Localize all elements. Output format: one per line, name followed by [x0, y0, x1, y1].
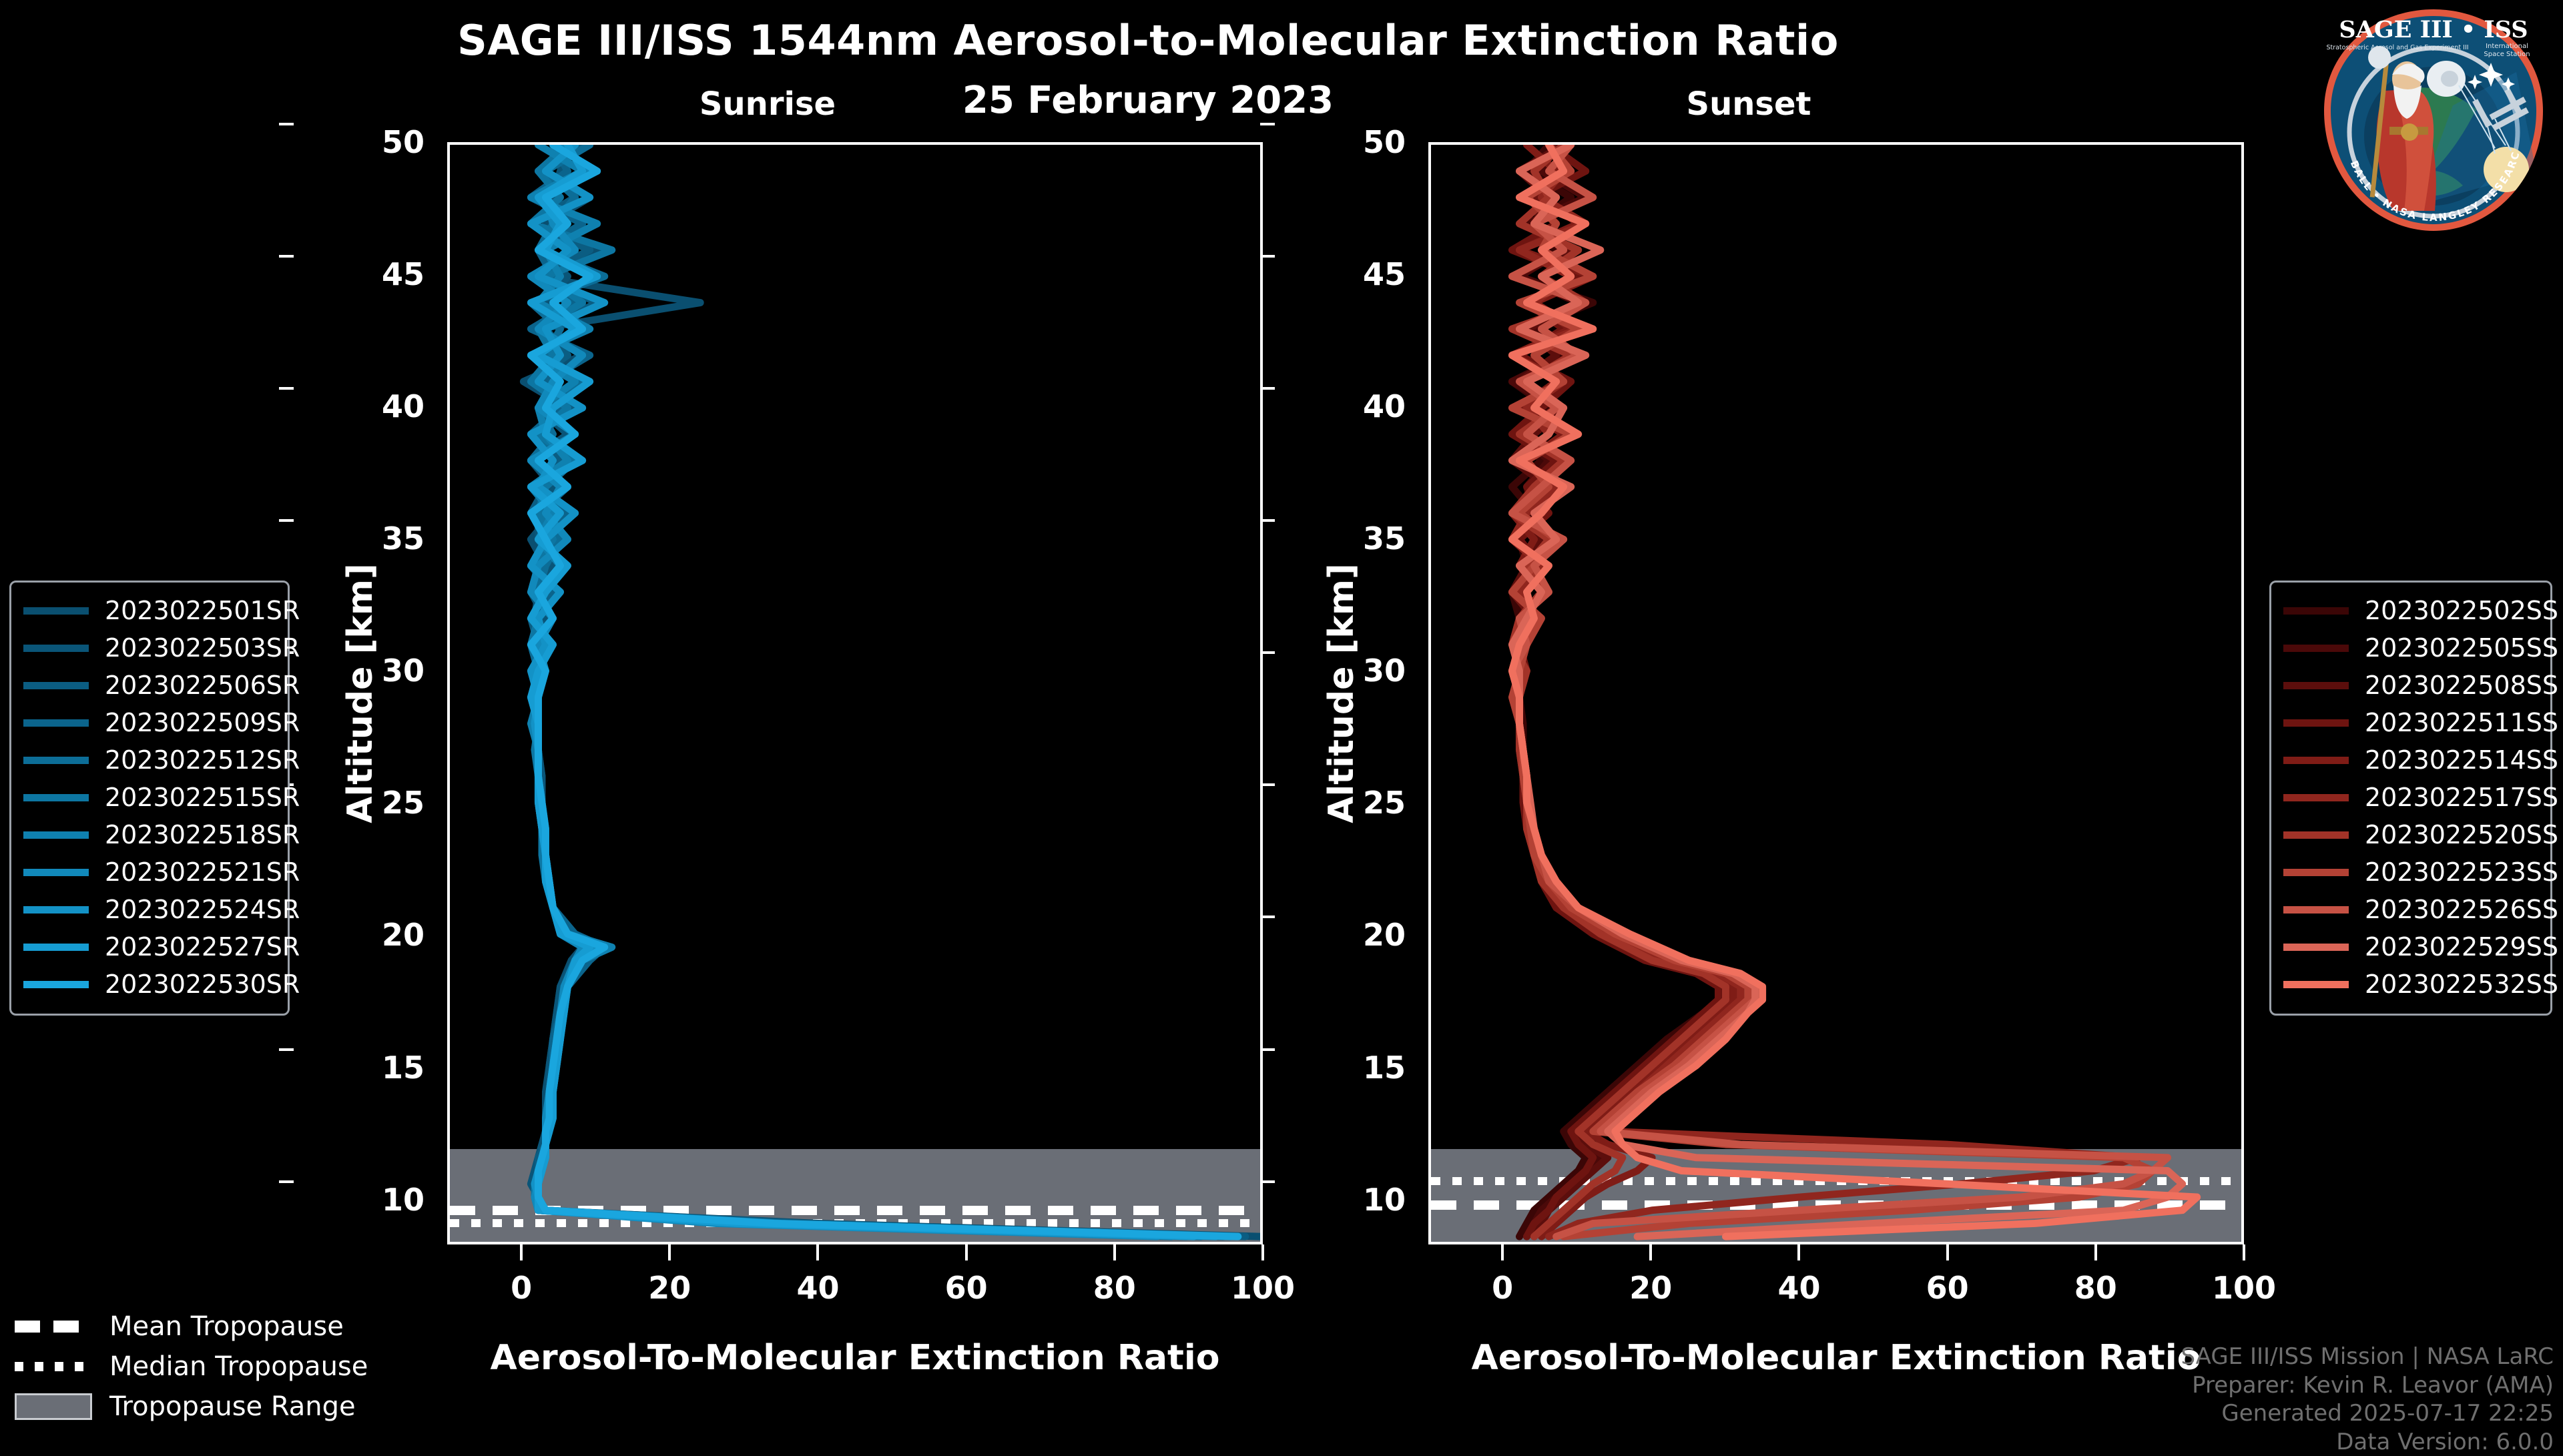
y-tick-label: 15 — [1275, 1050, 1428, 1086]
x-tick-label: 60 — [945, 1270, 988, 1306]
legend-item[interactable]: 2023022503SR — [23, 629, 276, 667]
x-tick-mark — [2094, 1244, 2097, 1260]
legend-color-swatch-icon — [23, 682, 89, 689]
sunset-series-legend[interactable]: 2023022502SS2023022505SS2023022508SS2023… — [2269, 581, 2552, 1016]
credit-data-version: Data Version: 6.0.0 — [2181, 1428, 2554, 1456]
sunset-series-svg — [1431, 145, 2241, 1242]
legend-color-swatch-icon — [23, 906, 89, 914]
x-tick-mark — [520, 1244, 523, 1260]
series-line — [531, 145, 1223, 1236]
x-tick-label: 60 — [1926, 1270, 1969, 1306]
y-tick-label: 10 — [294, 1182, 447, 1218]
legend-item[interactable]: 2023022530SR — [23, 966, 276, 1003]
legend-item[interactable]: 2023022520SS — [2283, 816, 2538, 853]
tropopause-range-key-icon — [15, 1393, 92, 1420]
sunrise-plot-panel[interactable]: Aerosol-To-Molecular Extinction Ratio Al… — [447, 142, 1263, 1244]
legend-item-label: 2023022529SS — [2365, 932, 2558, 962]
y-tick-label: 20 — [1275, 917, 1428, 953]
mean-tropopause-key-icon — [15, 1321, 92, 1333]
legend-item[interactable]: 2023022524SR — [23, 891, 276, 928]
y-tick-label: 20 — [294, 917, 447, 953]
credit-generated: Generated 2025-07-17 22:25 — [2181, 1399, 2554, 1428]
legend-color-swatch-icon — [2283, 869, 2349, 876]
sunrise-xaxis-label: Aerosol-To-Molecular Extinction Ratio — [447, 1338, 1263, 1378]
legend-color-swatch-icon — [2283, 757, 2349, 764]
y-tick-label: 45 — [294, 256, 447, 292]
legend-item[interactable]: 2023022518SR — [23, 816, 276, 853]
series-line — [1512, 145, 2197, 1236]
legend-item-label: 2023022530SR — [105, 970, 300, 999]
panel-subtitle-sunset: Sunset — [1649, 85, 1849, 123]
legend-item[interactable]: 2023022508SS — [2283, 667, 2538, 704]
y-tick-mark — [1260, 255, 1275, 258]
sunset-plot-area — [1428, 142, 2244, 1244]
legend-item[interactable]: 2023022523SS — [2283, 853, 2538, 891]
legend-item[interactable]: 2023022521SR — [23, 853, 276, 891]
legend-item[interactable]: 2023022532SS — [2283, 966, 2538, 1003]
y-tick-mark — [279, 387, 294, 390]
x-tick-mark — [1113, 1244, 1116, 1260]
legend-color-swatch-icon — [2283, 719, 2349, 727]
page-title: SAGE III/ISS 1544nm Aerosol-to-Molecular… — [0, 16, 2296, 65]
legend-color-swatch-icon — [2283, 682, 2349, 689]
x-tick-label: 40 — [1777, 1270, 1820, 1306]
sunrise-series-svg — [450, 145, 1260, 1242]
legend-color-swatch-icon — [23, 794, 89, 801]
y-tick-label: 45 — [1275, 256, 1428, 292]
svg-text:SAGE III • ISS: SAGE III • ISS — [2339, 16, 2528, 43]
mean-tropopause-label: Mean Tropopause — [109, 1311, 344, 1342]
y-tick-label: 35 — [294, 520, 447, 557]
legend-item-label: 2023022524SR — [105, 895, 300, 924]
x-tick-mark — [668, 1244, 671, 1260]
y-tick-label: 35 — [1275, 520, 1428, 557]
x-tick-label: 20 — [648, 1270, 691, 1306]
y-tick-label: 50 — [1275, 124, 1428, 160]
series-line — [1512, 145, 2167, 1236]
y-tick-mark — [279, 1180, 294, 1183]
legend-item-label: 2023022512SR — [105, 745, 300, 775]
legend-item[interactable]: 2023022515SR — [23, 779, 276, 816]
legend-item[interactable]: 2023022505SS — [2283, 629, 2538, 667]
legend-item-label: 2023022506SR — [105, 671, 300, 700]
legend-color-swatch-icon — [23, 869, 89, 876]
legend-item-label: 2023022523SS — [2365, 857, 2558, 887]
legend-item[interactable]: 2023022526SS — [2283, 891, 2538, 928]
y-tick-label: 25 — [1275, 785, 1428, 821]
x-tick-mark — [816, 1244, 819, 1260]
x-tick-mark — [2243, 1244, 2245, 1260]
legend-item-label: 2023022508SS — [2365, 671, 2558, 700]
legend-item-label: 2023022515SR — [105, 783, 300, 812]
x-tick-mark — [1261, 1244, 1264, 1260]
legend-item-label: 2023022517SS — [2365, 783, 2558, 812]
series-line — [531, 145, 1201, 1236]
x-tick-label: 80 — [1093, 1270, 1136, 1306]
y-tick-mark — [1260, 387, 1275, 390]
legend-color-swatch-icon — [23, 831, 89, 839]
legend-item-label: 2023022532SS — [2365, 970, 2558, 999]
x-tick-mark — [965, 1244, 968, 1260]
credits-block: SAGE III/ISS Mission | NASA LaRC Prepare… — [2181, 1343, 2554, 1456]
series-line — [531, 145, 1171, 1236]
tropopause-range-label: Tropopause Range — [109, 1391, 356, 1422]
legend-item-label: 2023022526SS — [2365, 895, 2558, 924]
legend-color-swatch-icon — [2283, 906, 2349, 914]
y-tick-mark — [279, 123, 294, 125]
y-tick-mark — [1260, 651, 1275, 654]
legend-item[interactable]: 2023022529SS — [2283, 928, 2538, 966]
legend-color-swatch-icon — [23, 645, 89, 652]
panel-subtitle-sunrise: Sunrise — [667, 85, 868, 123]
series-line — [531, 145, 1245, 1236]
median-tropopause-key-icon — [15, 1362, 92, 1371]
legend-item[interactable]: 2023022514SS — [2283, 741, 2538, 779]
x-tick-mark — [1649, 1244, 1652, 1260]
legend-item[interactable]: 2023022511SS — [2283, 704, 2538, 741]
y-tick-mark — [279, 519, 294, 522]
y-tick-label: 40 — [294, 388, 447, 424]
legend-item[interactable]: 2023022501SR — [23, 592, 276, 629]
y-tick-mark — [279, 255, 294, 258]
y-tick-mark — [1260, 519, 1275, 522]
y-tick-mark — [1260, 1048, 1275, 1051]
sunrise-series-legend[interactable]: 2023022501SR2023022503SR2023022506SR2023… — [9, 581, 290, 1016]
legend-item-label: 2023022520SS — [2365, 820, 2558, 849]
sunset-xaxis-label: Aerosol-To-Molecular Extinction Ratio — [1428, 1338, 2244, 1378]
legend-color-swatch-icon — [2283, 794, 2349, 801]
legend-color-swatch-icon — [2283, 607, 2349, 615]
x-tick-label: 0 — [1492, 1270, 1513, 1306]
credit-mission: SAGE III/ISS Mission | NASA LaRC — [2181, 1343, 2554, 1371]
legend-item-label: 2023022509SR — [105, 708, 300, 737]
legend-item[interactable]: 2023022527SR — [23, 928, 276, 966]
legend-color-swatch-icon — [23, 944, 89, 951]
y-tick-label: 10 — [1275, 1182, 1428, 1218]
svg-text:Stratospheric Aerosol and Gas: Stratospheric Aerosol and Gas Experiment… — [2326, 44, 2468, 51]
credit-preparer: Preparer: Kevin R. Leavor (AMA) — [2181, 1371, 2554, 1400]
y-tick-label: 50 — [294, 124, 447, 160]
legend-item[interactable]: 2023022506SR — [23, 667, 276, 704]
series-line — [1512, 145, 2153, 1236]
legend-item-label: 2023022505SS — [2365, 633, 2558, 663]
legend-color-swatch-icon — [23, 757, 89, 764]
legend-item-label: 2023022511SS — [2365, 708, 2558, 737]
x-tick-label: 40 — [796, 1270, 839, 1306]
y-tick-mark — [1260, 1180, 1275, 1183]
legend-item-tropopause-range[interactable]: Tropopause Range — [15, 1387, 368, 1427]
series-line — [531, 145, 1238, 1236]
series-line — [1512, 145, 2182, 1236]
y-tick-label: 25 — [294, 785, 447, 821]
x-tick-label: 0 — [511, 1270, 532, 1306]
series-line — [531, 145, 1215, 1236]
sunset-plot-panel[interactable]: Aerosol-To-Molecular Extinction Ratio Al… — [1428, 142, 2244, 1244]
x-tick-mark — [1501, 1244, 1504, 1260]
y-tick-label: 40 — [1275, 388, 1428, 424]
legend-item[interactable]: 2023022502SS — [2283, 592, 2538, 629]
x-tick-label: 80 — [2074, 1270, 2117, 1306]
legend-item-mean-tropopause[interactable]: Mean Tropopause — [15, 1307, 368, 1347]
median-tropopause-label: Median Tropopause — [109, 1351, 368, 1382]
legend-item[interactable]: 2023022517SS — [2283, 779, 2538, 816]
legend-color-swatch-icon — [2283, 981, 2349, 988]
y-tick-label: 15 — [294, 1050, 447, 1086]
legend-item[interactable]: 2023022509SR — [23, 704, 276, 741]
svg-text:Space Station: Space Station — [2484, 51, 2530, 58]
y-tick-mark — [1260, 783, 1275, 786]
legend-item-label: 2023022521SR — [105, 857, 300, 887]
y-tick-label: 30 — [294, 653, 447, 689]
svg-text:International: International — [2486, 43, 2528, 50]
y-tick-mark — [279, 1048, 294, 1051]
legend-color-swatch-icon — [23, 607, 89, 615]
x-tick-label: 100 — [2212, 1270, 2276, 1306]
date-title: 25 February 2023 — [0, 79, 2296, 122]
legend-item-label: 2023022514SS — [2365, 745, 2558, 775]
series-line — [523, 145, 1260, 1236]
legend-color-swatch-icon — [23, 981, 89, 988]
legend-item-label: 2023022502SS — [2365, 596, 2558, 625]
x-tick-label: 20 — [1629, 1270, 1672, 1306]
legend-color-swatch-icon — [2283, 831, 2349, 839]
legend-item-label: 2023022518SR — [105, 820, 300, 849]
sage-iii-iss-logo-icon: SAGE III • ISS Stratospheric Aerosol and… — [2316, 5, 2551, 235]
y-tick-mark — [1260, 916, 1275, 918]
legend-item-label: 2023022501SR — [105, 596, 300, 625]
x-tick-mark — [1797, 1244, 1800, 1260]
y-tick-label: 30 — [1275, 653, 1428, 689]
legend-item[interactable]: 2023022512SR — [23, 741, 276, 779]
x-tick-mark — [1946, 1244, 1949, 1260]
series-line — [531, 145, 1230, 1236]
tropopause-legend[interactable]: Mean Tropopause Median Tropopause Tropop… — [15, 1307, 368, 1427]
legend-color-swatch-icon — [2283, 645, 2349, 652]
series-line — [1512, 145, 2138, 1236]
sunrise-plot-area — [447, 142, 1263, 1244]
legend-color-swatch-icon — [2283, 944, 2349, 951]
legend-item-median-tropopause[interactable]: Median Tropopause — [15, 1347, 368, 1387]
x-tick-label: 100 — [1231, 1270, 1295, 1306]
legend-item-label: 2023022527SR — [105, 932, 300, 962]
series-line — [531, 145, 1157, 1236]
y-tick-mark — [1260, 123, 1275, 125]
legend-item-label: 2023022503SR — [105, 633, 300, 663]
series-line — [531, 145, 1193, 1236]
legend-color-swatch-icon — [23, 719, 89, 727]
series-line — [531, 145, 1186, 1236]
